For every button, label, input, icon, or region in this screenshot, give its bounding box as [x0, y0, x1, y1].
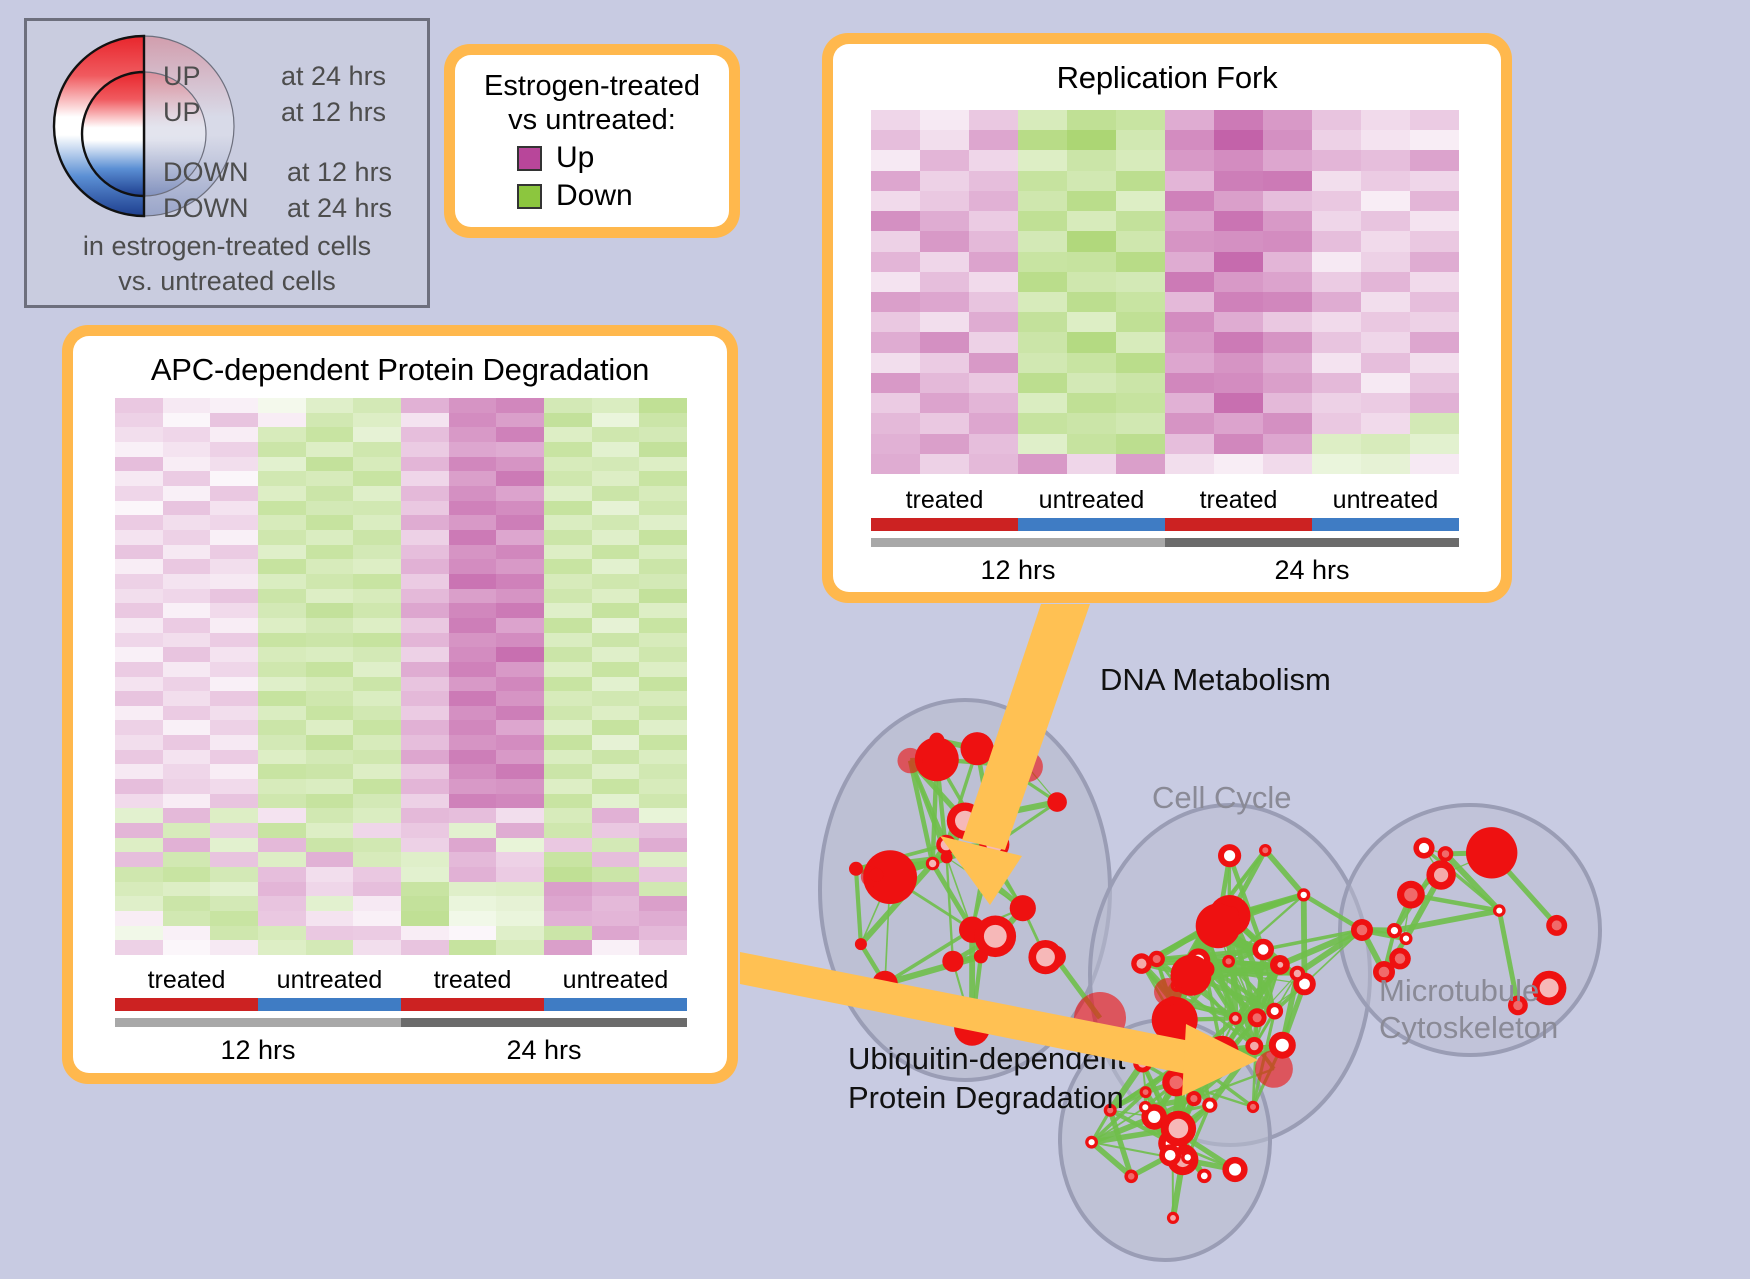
heatmap-cell	[496, 823, 544, 838]
heatmap-cell	[1312, 454, 1361, 474]
heatmap-cell	[1263, 332, 1312, 352]
heatmap-cell	[449, 926, 497, 941]
heatmap-cell	[544, 779, 592, 794]
heatmap-cell	[639, 720, 687, 735]
heatmap-cell	[592, 647, 640, 662]
heatmap-cell	[306, 691, 354, 706]
heatmap-cell	[1018, 292, 1067, 312]
heatmap-cell	[639, 618, 687, 633]
heatmap-cell	[544, 501, 592, 516]
heatmap-cell	[258, 530, 306, 545]
group-bar-segment	[1312, 518, 1459, 531]
heatmap-cell	[1263, 312, 1312, 332]
heatmap-cell	[1165, 413, 1214, 433]
heatmap-cell	[871, 150, 920, 170]
heatmap-cell	[306, 677, 354, 692]
heatmap-cell	[401, 677, 449, 692]
heatmap-cell	[920, 272, 969, 292]
heatmap-cell	[1410, 312, 1459, 332]
heatmap-cell	[1263, 211, 1312, 231]
heatmap-cell	[258, 471, 306, 486]
replication-fork-group-bar	[871, 518, 1459, 531]
heatmap-cell	[1214, 434, 1263, 454]
heatmap-cell	[401, 764, 449, 779]
color-key-box: UP at 24 hrs UP at 12 hrs DOWN at 12 hrs…	[24, 18, 430, 308]
heatmap-cell	[496, 413, 544, 428]
heatmap-cell	[258, 764, 306, 779]
heatmap-cell	[401, 823, 449, 838]
heatmap-cell	[258, 940, 306, 955]
heatmap-cell	[258, 574, 306, 589]
heatmap-cell	[592, 413, 640, 428]
heatmap-cell	[210, 911, 258, 926]
heatmap-cell	[496, 647, 544, 662]
heatmap-cell	[639, 486, 687, 501]
heatmap-cell	[210, 852, 258, 867]
heatmap-cell	[115, 706, 163, 721]
heatmap-cell	[544, 647, 592, 662]
heatmap-cell	[592, 677, 640, 692]
pathway-network-diagram: DNA Metabolism Cell Cycle Microtubule Cy…	[770, 600, 1750, 1279]
heatmap-cell	[115, 633, 163, 648]
heatmap-cell	[210, 427, 258, 442]
heatmap-cell	[401, 911, 449, 926]
key-direction-up-12: UP	[163, 97, 201, 128]
heatmap-cell	[1214, 332, 1263, 352]
heatmap-cell	[163, 501, 211, 516]
heatmap-cell	[353, 442, 401, 457]
heatmap-cell	[163, 442, 211, 457]
heatmap-cell	[449, 779, 497, 794]
heatmap-cell	[920, 191, 969, 211]
heatmap-cell	[1361, 413, 1410, 433]
heatmap-cell	[401, 589, 449, 604]
heatmap-cell	[544, 808, 592, 823]
heatmap-cell	[353, 852, 401, 867]
key-time-up-24: at 24 hrs	[281, 61, 386, 92]
heatmap-cell	[920, 413, 969, 433]
heatmap-cell	[449, 764, 497, 779]
heatmap-cell	[544, 442, 592, 457]
heatmap-cell	[449, 720, 497, 735]
heatmap-cell	[163, 926, 211, 941]
heatmap-cell	[496, 501, 544, 516]
heatmap-cell	[592, 882, 640, 897]
heatmap-cell	[449, 633, 497, 648]
heatmap-cell	[544, 823, 592, 838]
heatmap-cell	[210, 442, 258, 457]
heatmap-cell	[1410, 292, 1459, 312]
heatmap-cell	[1312, 171, 1361, 191]
heatmap-cell	[496, 559, 544, 574]
heatmap-cell	[306, 442, 354, 457]
heatmap-cell	[639, 867, 687, 882]
heatmap-cell	[496, 940, 544, 955]
heatmap-cell	[1410, 130, 1459, 150]
heatmap-cell	[1312, 130, 1361, 150]
heatmap-cell	[258, 779, 306, 794]
time-label: 12 hrs	[115, 1035, 401, 1066]
heatmap-cell	[1361, 292, 1410, 312]
heatmap-cell	[920, 332, 969, 352]
heatmap-cell	[544, 794, 592, 809]
heatmap-cell	[210, 574, 258, 589]
heatmap-cell	[449, 398, 497, 413]
heatmap-cell	[449, 750, 497, 765]
heatmap-cell	[496, 603, 544, 618]
heatmap-cell	[1214, 292, 1263, 312]
heatmap-cell	[163, 618, 211, 633]
heatmap-cell	[496, 457, 544, 472]
heatmap-cell	[258, 911, 306, 926]
heatmap-cell	[639, 823, 687, 838]
heatmap-cell	[401, 471, 449, 486]
heatmap-cell	[115, 647, 163, 662]
heatmap-cell	[544, 926, 592, 941]
heatmap-cell	[496, 662, 544, 677]
heatmap-cell	[1214, 211, 1263, 231]
heatmap-cell	[306, 603, 354, 618]
heatmap-cell	[401, 574, 449, 589]
heatmap-cell	[401, 838, 449, 853]
heatmap-cell	[592, 457, 640, 472]
heatmap-cell	[639, 808, 687, 823]
heatmap-cell	[1361, 150, 1410, 170]
heatmap-cell	[1410, 434, 1459, 454]
heatmap-cell	[353, 457, 401, 472]
heatmap-cell	[639, 706, 687, 721]
heatmap-cell	[306, 794, 354, 809]
heatmap-cell	[1067, 393, 1116, 413]
heatmap-cell	[969, 292, 1018, 312]
heatmap-cell	[163, 779, 211, 794]
heatmap-cell	[1067, 110, 1116, 130]
heatmap-cell	[871, 171, 920, 191]
heatmap-cell	[163, 823, 211, 838]
heatmap-cell	[544, 633, 592, 648]
heatmap-cell	[449, 882, 497, 897]
heatmap-cell	[592, 501, 640, 516]
heatmap-cell	[969, 252, 1018, 272]
heatmap-cell	[639, 442, 687, 457]
heatmap-cell	[592, 589, 640, 604]
heatmap-cell	[592, 794, 640, 809]
heatmap-cell	[449, 940, 497, 955]
heatmap-cell	[115, 530, 163, 545]
heatmap-cell	[1116, 332, 1165, 352]
heatmap-cell	[1165, 332, 1214, 352]
heatmap-cell	[210, 735, 258, 750]
color-key-footer: in estrogen-treated cells vs. untreated …	[27, 229, 427, 299]
heatmap-cell	[1361, 191, 1410, 211]
heatmap-cell	[496, 574, 544, 589]
heatmap-cell	[115, 559, 163, 574]
heatmap-cell	[969, 272, 1018, 292]
heatmap-cell	[258, 457, 306, 472]
heatmap-cell	[353, 515, 401, 530]
cluster-label-ubiquitin-dependent-protein-degradation: Ubiquitin-dependent Protein Degradation	[848, 1040, 1126, 1118]
heatmap-cell	[401, 427, 449, 442]
heatmap-cell	[306, 545, 354, 560]
heatmap-cell	[115, 882, 163, 897]
heatmap-cell	[401, 545, 449, 560]
heatmap-cell	[210, 471, 258, 486]
cluster-label-cell-cycle: Cell Cycle	[1152, 780, 1292, 816]
heatmap-cell	[401, 530, 449, 545]
heatmap-cell	[544, 559, 592, 574]
heatmap-cell	[1067, 211, 1116, 231]
heatmap-cell	[592, 398, 640, 413]
heatmap-cell	[353, 838, 401, 853]
heatmap-cell	[592, 779, 640, 794]
heatmap-cell	[592, 427, 640, 442]
heatmap-cell	[258, 852, 306, 867]
heatmap-cell	[1214, 150, 1263, 170]
heatmap-cell	[115, 589, 163, 604]
heatmap-cell	[1410, 413, 1459, 433]
heatmap-cell	[496, 398, 544, 413]
heatmap-cell	[163, 515, 211, 530]
heatmap-cell	[1410, 373, 1459, 393]
heatmap-cell	[210, 691, 258, 706]
heatmap-cell	[920, 393, 969, 413]
heatmap-cell	[258, 691, 306, 706]
heatmap-cell	[639, 501, 687, 516]
heatmap-cell	[258, 662, 306, 677]
heatmap-cell	[401, 852, 449, 867]
heatmap-cell	[969, 332, 1018, 352]
heatmap-cell	[306, 471, 354, 486]
heatmap-cell	[163, 486, 211, 501]
heatmap-cell	[920, 150, 969, 170]
heatmap-cell	[1116, 150, 1165, 170]
heatmap-cell	[1116, 292, 1165, 312]
heatmap-cell	[306, 720, 354, 735]
heatmap-cell	[592, 911, 640, 926]
heatmap-cell	[1165, 434, 1214, 454]
replication-fork-panel: Replication Fork treateduntreatedtreated…	[822, 33, 1512, 603]
cluster-label-dna-metabolism: DNA Metabolism	[1100, 662, 1331, 698]
heatmap-cell	[544, 398, 592, 413]
heatmap-cell	[1165, 171, 1214, 191]
heatmap-cell	[544, 486, 592, 501]
heatmap-cell	[592, 838, 640, 853]
heatmap-cell	[163, 677, 211, 692]
heatmap-cell	[258, 398, 306, 413]
heatmap-cell	[592, 559, 640, 574]
heatmap-cell	[353, 720, 401, 735]
heatmap-cell	[210, 618, 258, 633]
heatmap-cell	[1018, 454, 1067, 474]
heatmap-cell	[496, 882, 544, 897]
heatmap-cell	[544, 911, 592, 926]
heatmap-cell	[496, 633, 544, 648]
heatmap-cell	[353, 398, 401, 413]
heatmap-cell	[258, 618, 306, 633]
heatmap-cell	[115, 398, 163, 413]
key-direction-down-24: DOWN	[163, 193, 248, 224]
heatmap-cell	[969, 353, 1018, 373]
group-bar-segment	[115, 998, 258, 1011]
heatmap-cell	[306, 750, 354, 765]
heatmap-cell	[1361, 272, 1410, 292]
heatmap-cell	[1165, 272, 1214, 292]
heatmap-cell	[639, 735, 687, 750]
heatmap-cell	[969, 312, 1018, 332]
time-bar-segment	[115, 1018, 401, 1027]
heatmap-cell	[969, 454, 1018, 474]
heatmap-cell	[115, 808, 163, 823]
heatmap-cell	[163, 764, 211, 779]
heatmap-cell	[969, 130, 1018, 150]
heatmap-cell	[592, 530, 640, 545]
heatmap-cell	[544, 603, 592, 618]
heatmap-cell	[258, 735, 306, 750]
heatmap-cell	[544, 940, 592, 955]
heatmap-cell	[639, 764, 687, 779]
heatmap-cell	[1263, 110, 1312, 130]
heatmap-cell	[871, 413, 920, 433]
heatmap-cell	[639, 603, 687, 618]
legend-item-up: Up	[455, 141, 729, 175]
heatmap-cell	[1116, 434, 1165, 454]
heatmap-cell	[969, 373, 1018, 393]
heatmap-cell	[353, 926, 401, 941]
legend-swatch-down-icon	[517, 184, 542, 209]
heatmap-cell	[401, 662, 449, 677]
heatmap-cell	[1312, 413, 1361, 433]
heatmap-cell	[353, 779, 401, 794]
heatmap-cell	[920, 312, 969, 332]
heatmap-cell	[1263, 252, 1312, 272]
heatmap-cell	[1312, 393, 1361, 413]
heatmap-cell	[115, 427, 163, 442]
heatmap-cell	[449, 427, 497, 442]
heatmap-cell	[163, 720, 211, 735]
heatmap-cell	[449, 911, 497, 926]
heatmap-cell	[258, 647, 306, 662]
heatmap-cell	[115, 471, 163, 486]
color-key-footer-line1: in estrogen-treated cells	[27, 229, 427, 264]
heatmap-cell	[210, 647, 258, 662]
heatmap-cell	[115, 779, 163, 794]
heatmap-cell	[401, 515, 449, 530]
heatmap-cell	[210, 750, 258, 765]
color-key-footer-line2: vs. untreated cells	[27, 264, 427, 299]
heatmap-cell	[115, 442, 163, 457]
heatmap-cell	[115, 838, 163, 853]
heatmap-cell	[1312, 211, 1361, 231]
heatmap-cell	[1361, 434, 1410, 454]
heatmap-cell	[306, 647, 354, 662]
heatmap-cell	[639, 589, 687, 604]
heatmap-cell	[163, 427, 211, 442]
heatmap-cell	[353, 794, 401, 809]
heatmap-cell	[115, 896, 163, 911]
heatmap-cell	[401, 457, 449, 472]
heatmap-cell	[592, 926, 640, 941]
heatmap-cell	[639, 911, 687, 926]
heatmap-cell	[449, 486, 497, 501]
heatmap-cell	[306, 559, 354, 574]
heatmap-cell	[871, 353, 920, 373]
heatmap-cell	[115, 735, 163, 750]
heatmap-cell	[1116, 353, 1165, 373]
heatmap-cell	[353, 486, 401, 501]
heatmap-cell	[115, 574, 163, 589]
heatmap-cell	[1263, 454, 1312, 474]
heatmap-cell	[1410, 272, 1459, 292]
heatmap-cell	[210, 823, 258, 838]
time-bar-segment	[401, 1018, 687, 1027]
heatmap-cell	[401, 618, 449, 633]
heatmap-cell	[1312, 150, 1361, 170]
heatmap-cell	[592, 471, 640, 486]
heatmap-cell	[1018, 393, 1067, 413]
heatmap-cell	[1214, 413, 1263, 433]
heatmap-cell	[401, 735, 449, 750]
heatmap-cell	[210, 501, 258, 516]
heatmap-cell	[353, 940, 401, 955]
heatmap-cell	[1018, 373, 1067, 393]
heatmap-cell	[544, 677, 592, 692]
heatmap-cell	[1361, 353, 1410, 373]
heatmap-cell	[258, 413, 306, 428]
heatmap-cell	[353, 633, 401, 648]
key-time-down-24: at 24 hrs	[287, 193, 392, 224]
heatmap-cell	[592, 442, 640, 457]
heatmap-cell	[401, 882, 449, 897]
heatmap-cell	[592, 867, 640, 882]
heatmap-cell	[1214, 373, 1263, 393]
group-bar-segment	[1018, 518, 1165, 531]
heatmap-cell	[1165, 393, 1214, 413]
heatmap-cell	[210, 559, 258, 574]
heatmap-cell	[210, 706, 258, 721]
heatmap-cell	[115, 750, 163, 765]
heatmap-cell	[163, 706, 211, 721]
heatmap-cell	[920, 252, 969, 272]
heatmap-cell	[1361, 373, 1410, 393]
heatmap-cell	[496, 530, 544, 545]
heatmap-cell	[163, 911, 211, 926]
heatmap-cell	[544, 691, 592, 706]
heatmap-cell	[639, 779, 687, 794]
heatmap-cell	[1214, 191, 1263, 211]
heatmap-cell	[1067, 171, 1116, 191]
heatmap-cell	[920, 171, 969, 191]
heatmap-cell	[115, 618, 163, 633]
heatmap-cell	[1263, 231, 1312, 251]
heatmap-cell	[163, 647, 211, 662]
heatmap-cell	[1116, 312, 1165, 332]
heatmap-cell	[592, 852, 640, 867]
heatmap-cell	[449, 852, 497, 867]
heatmap-cell	[920, 353, 969, 373]
key-time-up-12: at 12 hrs	[281, 97, 386, 128]
heatmap-cell	[639, 852, 687, 867]
heatmap-cell	[969, 191, 1018, 211]
group-label: untreated	[258, 966, 401, 995]
heatmap-cell	[115, 823, 163, 838]
heatmap-cell	[871, 434, 920, 454]
heatmap-cell	[496, 427, 544, 442]
heatmap-cell	[449, 589, 497, 604]
heatmap-cell	[544, 838, 592, 853]
time-label: 24 hrs	[401, 1035, 687, 1066]
heatmap-cell	[1165, 130, 1214, 150]
heatmap-cell	[639, 574, 687, 589]
